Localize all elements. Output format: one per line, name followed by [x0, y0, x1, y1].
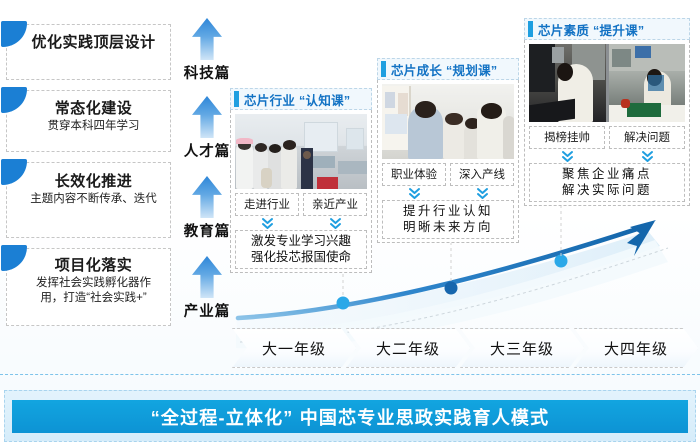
- principle-card-3[interactable]: 长效化推进 主题内容不断传承、迭代: [6, 162, 171, 238]
- activity-label: 职业体验: [382, 163, 446, 186]
- activity-label: 解决问题: [609, 126, 685, 149]
- corner-accent-icon: [1, 21, 27, 47]
- chevron-row: [235, 216, 367, 230]
- corner-accent-icon: [1, 245, 27, 271]
- principle-subtitle: 贯穿本科四年学习: [25, 119, 162, 134]
- double-chevron-down-icon: [329, 217, 342, 230]
- principle-title: 长效化推进: [25, 173, 162, 191]
- activity-label: 揭榜挂帅: [529, 126, 605, 149]
- principle-card-2[interactable]: 常态化建设 贯穿本科四年学习: [6, 90, 171, 152]
- course-photo: [235, 114, 367, 189]
- infographic-canvas: 优化实践顶层设计 常态化建设 贯穿本科四年学习 长效化推进 主题内容不断传承、迭…: [0, 0, 700, 446]
- pillar-label: 产业篇: [176, 300, 238, 321]
- grade-label: 大二年级: [376, 338, 440, 359]
- pillar-2: 人才篇: [176, 96, 238, 161]
- photo-right: [609, 44, 686, 122]
- course-header: 芯片行业 “认知课”: [230, 88, 372, 110]
- activity-label: 亲近产业: [303, 193, 367, 216]
- grade-label: 大三年级: [490, 338, 554, 359]
- pillar-3: 教育篇: [176, 176, 238, 241]
- course-outcome: 提升行业认知 明晰未来方向: [382, 200, 514, 239]
- accent-bar-icon: [528, 21, 533, 37]
- principle-card-4[interactable]: 项目化落实 发挥社会实践孵化器作用，打造“社会实践+”: [6, 248, 171, 326]
- course-outcome: 聚焦企业痛点 解决实际问题: [529, 163, 685, 202]
- principles-column: 优化实践顶层设计 常态化建设 贯穿本科四年学习 长效化推进 主题内容不断传承、迭…: [6, 24, 171, 336]
- course-title: 芯片素质 “提升课”: [538, 20, 644, 39]
- pillar-1: 科技篇: [176, 18, 238, 83]
- pillar-4: 产业篇: [176, 256, 238, 321]
- accent-bar-icon: [381, 61, 386, 77]
- outcome-line: 激发专业学习兴趣: [238, 233, 364, 249]
- pillar-label: 教育篇: [176, 220, 238, 241]
- activity-labels: 走进行业 亲近产业: [235, 193, 367, 216]
- outcome-line: 解决实际问题: [532, 182, 682, 198]
- course-header: 芯片素质 “提升课”: [524, 18, 690, 40]
- chevron-row: [529, 149, 685, 163]
- course-card-1[interactable]: 芯片行业 “认知课”: [230, 88, 372, 273]
- outcome-line: 强化投芯报国使命: [238, 249, 364, 265]
- course-title: 芯片成长 “规划课”: [391, 60, 497, 79]
- course-title: 芯片行业 “认知课”: [244, 90, 350, 109]
- accent-bar-icon: [234, 91, 239, 107]
- grade-chevron-1[interactable]: 大一年级: [232, 328, 356, 368]
- outcome-line: 聚焦企业痛点: [532, 166, 682, 182]
- grade-chevron-2[interactable]: 大二年级: [346, 328, 470, 368]
- double-chevron-down-icon: [561, 150, 574, 163]
- principle-title: 常态化建设: [25, 100, 162, 118]
- arrow-up-icon: [192, 18, 222, 60]
- corner-accent-icon: [1, 87, 27, 113]
- arrow-up-icon: [192, 256, 222, 298]
- photo-left: [529, 44, 606, 122]
- principle-title: 项目化落实: [25, 257, 162, 275]
- activity-label: 走进行业: [235, 193, 299, 216]
- double-chevron-down-icon: [641, 150, 654, 163]
- pillars-column: 科技篇 人才篇 教育篇 产业篇: [176, 18, 238, 363]
- course-header: 芯片成长 “规划课”: [377, 58, 519, 80]
- activity-labels: 揭榜挂帅 解决问题: [529, 126, 685, 149]
- grade-label: 大一年级: [262, 338, 326, 359]
- banner-text: “全过程-立体化” 中国芯专业思政实践育人模式: [151, 404, 550, 430]
- principle-subtitle: 主题内容不断传承、迭代: [25, 192, 162, 207]
- baseline-divider: [0, 374, 700, 375]
- course-photo: [529, 44, 685, 122]
- double-chevron-down-icon: [261, 217, 274, 230]
- double-chevron-down-icon: [476, 187, 489, 200]
- pillar-label: 科技篇: [176, 62, 238, 83]
- outcome-line: 提升行业认知: [385, 203, 511, 219]
- arrow-up-icon: [192, 96, 222, 138]
- outcome-line: 明晰未来方向: [385, 219, 511, 235]
- double-chevron-down-icon: [408, 187, 421, 200]
- pillar-label: 人才篇: [176, 140, 238, 161]
- model-banner: “全过程-立体化” 中国芯专业思政实践育人模式: [12, 400, 688, 433]
- grade-chevron-3[interactable]: 大三年级: [460, 328, 584, 368]
- course-photo: [382, 84, 514, 159]
- arrow-up-icon: [192, 176, 222, 218]
- principle-subtitle: 发挥社会实践孵化器作用，打造“社会实践+”: [25, 276, 162, 306]
- principle-card-1[interactable]: 优化实践顶层设计: [6, 24, 171, 80]
- grade-label: 大四年级: [604, 338, 668, 359]
- course-card-2[interactable]: 芯片成长 “规划课”: [377, 58, 519, 243]
- course-outcome: 激发专业学习兴趣 强化投芯报国使命: [235, 230, 367, 269]
- activity-label: 深入产线: [450, 163, 514, 186]
- corner-accent-icon: [1, 159, 27, 185]
- chevron-row: [382, 186, 514, 200]
- course-card-3[interactable]: 芯片素质 “提升课”: [524, 18, 690, 206]
- principle-title: 优化实践顶层设计: [25, 34, 162, 52]
- activity-labels: 职业体验 深入产线: [382, 163, 514, 186]
- grade-chevron-4[interactable]: 大四年级: [574, 328, 698, 368]
